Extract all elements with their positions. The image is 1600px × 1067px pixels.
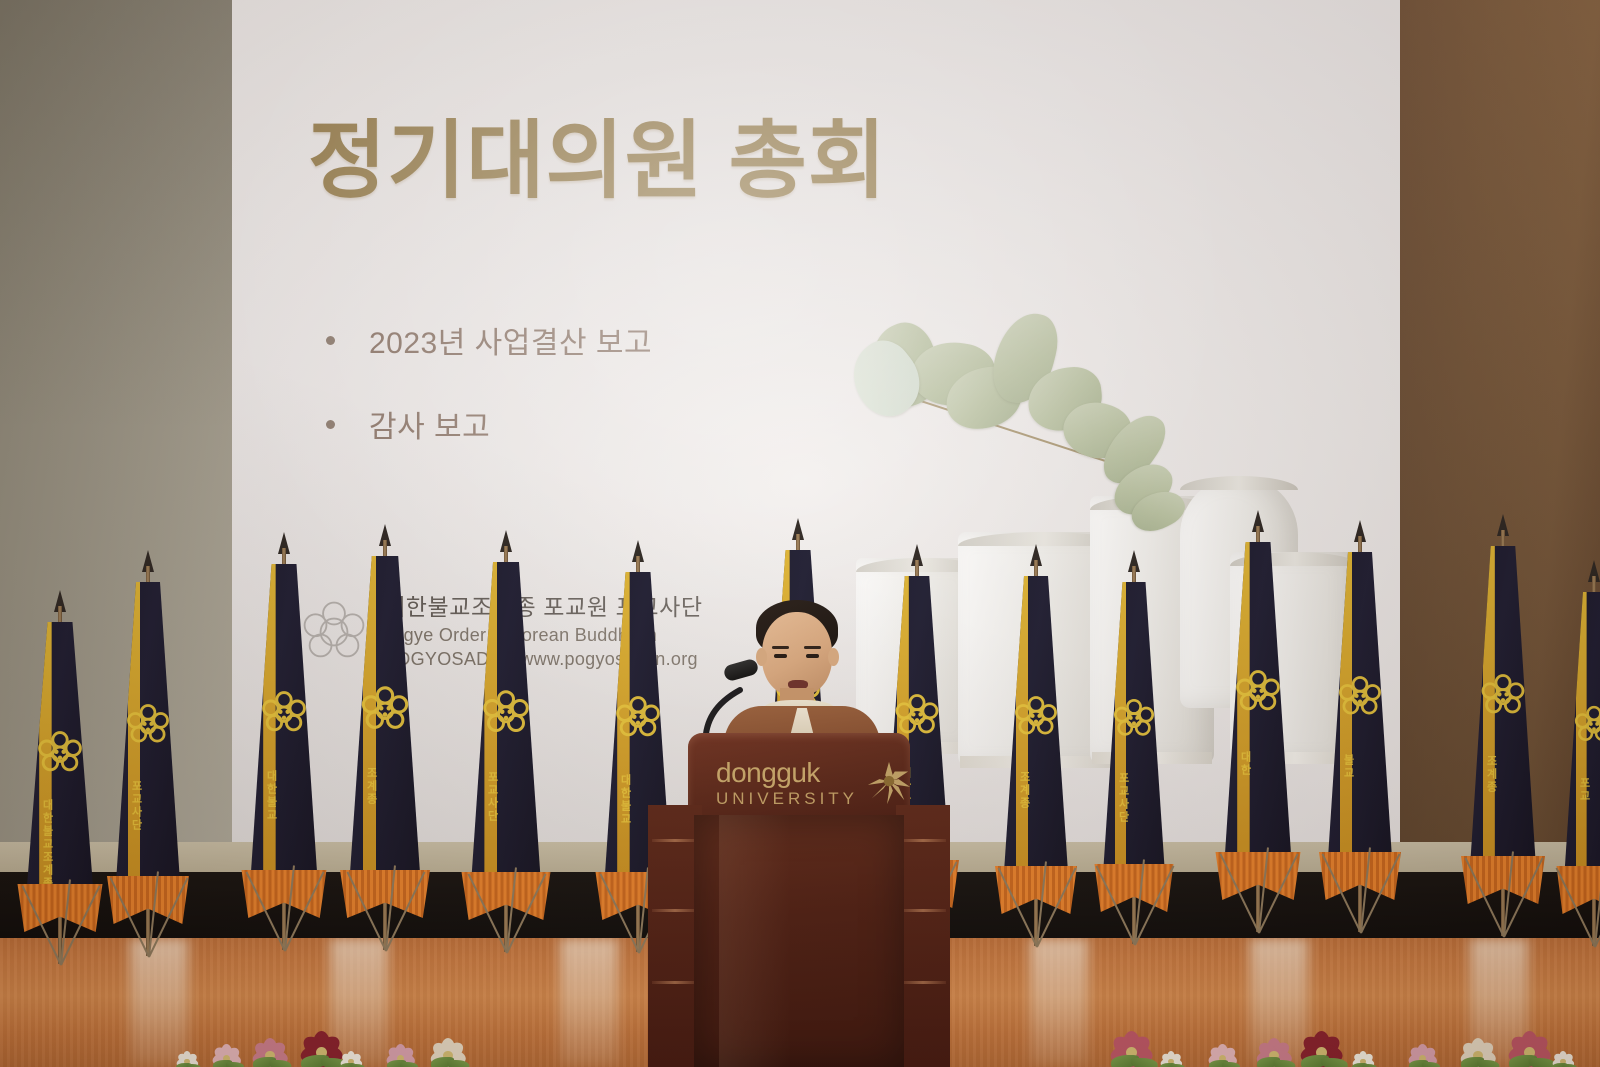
flower bbox=[1300, 1028, 1343, 1067]
lotus-emblem-icon bbox=[866, 760, 912, 806]
bullet-dot-icon bbox=[326, 336, 335, 345]
podium-logo-subtitle: UNIVERSITY bbox=[716, 790, 858, 807]
lotus-emblem-icon bbox=[1480, 672, 1527, 719]
flag-label: 조계종 bbox=[1483, 755, 1499, 794]
flower bbox=[300, 1028, 343, 1067]
ceremonial-flag: 포교사단 bbox=[452, 546, 560, 952]
flag-label: 포교사단 bbox=[1115, 772, 1131, 824]
flag-label: 대한불교 bbox=[263, 770, 279, 822]
lotus-emblem-icon bbox=[260, 689, 308, 737]
lotus-emblem-icon bbox=[125, 702, 171, 748]
flag-stand bbox=[1073, 855, 1195, 945]
flower bbox=[212, 1042, 241, 1067]
flag-stand bbox=[1297, 843, 1423, 933]
ear bbox=[756, 648, 767, 666]
lotus-emblem-icon bbox=[894, 692, 941, 739]
flag-label: 조계종 bbox=[363, 767, 379, 806]
podium-logo: dongguk UNIVERSITY bbox=[716, 759, 912, 807]
flag-stand bbox=[1535, 857, 1600, 947]
flower bbox=[1352, 1049, 1374, 1067]
foreground-flowers bbox=[0, 987, 1600, 1067]
flower bbox=[252, 1035, 288, 1067]
flower bbox=[386, 1042, 415, 1067]
flower bbox=[1552, 1049, 1574, 1067]
podium-logo-name: dongguk bbox=[716, 759, 858, 787]
ceremonial-flag: 대한 bbox=[1206, 526, 1310, 932]
flower bbox=[176, 1049, 198, 1067]
lotus-emblem-icon bbox=[1112, 697, 1156, 741]
list-item: 감사 보고 bbox=[326, 402, 652, 446]
flower bbox=[1408, 1042, 1437, 1067]
ceremonial-flag: 포교사단 bbox=[1086, 566, 1182, 944]
lotus-emblem-icon bbox=[1234, 668, 1282, 716]
lotus-emblem-icon bbox=[360, 684, 411, 735]
flag-stand bbox=[317, 861, 453, 951]
flag-label: 포교 bbox=[1576, 777, 1592, 803]
eyebrow bbox=[772, 646, 789, 649]
slide-title: 정기대의원 총회 bbox=[308, 92, 887, 215]
eye bbox=[774, 654, 787, 658]
eucalyptus-branch bbox=[850, 306, 1250, 556]
eye bbox=[806, 654, 819, 658]
stage-scene: 정기대의원 총회 2023년 사업결산 보고 감사 보고 bbox=[0, 0, 1600, 1067]
flag-label: 포교사단 bbox=[128, 780, 144, 832]
lotus-emblem-icon bbox=[1013, 694, 1059, 740]
bullet-text: 2023년 사업결산 보고 bbox=[369, 318, 652, 362]
lotus-emblem-icon bbox=[36, 729, 84, 777]
flag-label: 불교 bbox=[1340, 754, 1356, 780]
ceremonial-flag: 포교 bbox=[1548, 576, 1600, 946]
flag-label: 대한 bbox=[1237, 751, 1253, 777]
ceremonial-flag: 조계종 bbox=[330, 540, 440, 950]
bullet-text: 감사 보고 bbox=[369, 402, 490, 446]
ceremonial-flag: 불교 bbox=[1310, 536, 1410, 932]
flag-stand bbox=[439, 863, 573, 953]
flower bbox=[340, 1049, 362, 1067]
flag-label: 조계종 bbox=[1016, 771, 1032, 810]
lotus-emblem-icon bbox=[1573, 704, 1600, 746]
flag-label: 대한불교 bbox=[617, 774, 633, 826]
flower bbox=[430, 1035, 466, 1067]
flower bbox=[1208, 1042, 1237, 1067]
slide-bullet-list: 2023년 사업결산 보고 감사 보고 bbox=[326, 318, 652, 486]
bullet-dot-icon bbox=[326, 420, 335, 429]
flower bbox=[1460, 1035, 1496, 1067]
list-item: 2023년 사업결산 보고 bbox=[326, 318, 652, 362]
ear bbox=[828, 648, 839, 666]
eyebrow bbox=[804, 646, 821, 649]
flower bbox=[1256, 1035, 1292, 1067]
flag-stand bbox=[85, 867, 211, 957]
ceremonial-flag: 포교사단 bbox=[98, 566, 198, 956]
lotus-emblem-icon bbox=[481, 688, 531, 738]
speaker-person bbox=[718, 596, 884, 756]
lotus-emblem-icon bbox=[1337, 674, 1383, 720]
ceremonial-flag: 조계종 bbox=[986, 560, 1086, 946]
flag-label: 포교사단 bbox=[484, 771, 500, 823]
flower bbox=[1508, 1028, 1551, 1067]
flower bbox=[1110, 1028, 1153, 1067]
flower bbox=[1160, 1049, 1182, 1067]
